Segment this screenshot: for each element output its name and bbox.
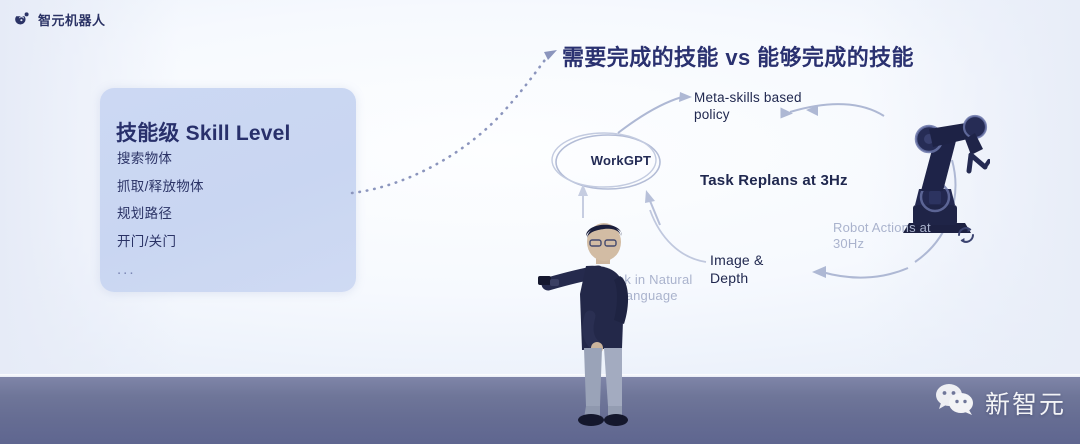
dotted-arrow-icon [352, 50, 557, 193]
robot-arm-icon [885, 105, 990, 235]
task-replans-label: Task Replans at 3Hz [700, 172, 848, 191]
image-depth-label: Image & Depth [710, 252, 800, 287]
meta-skills-policy-label: Meta-skills based policy [694, 90, 824, 124]
slide-stage: 智元机器人 技能级 Skill Level 搜索物体 抓取/释放物体 规划路径 … [0, 0, 1080, 444]
watermark-text: 新智元 [985, 385, 1066, 421]
presenter-person [520, 220, 660, 435]
channel-watermark: 新智元 [933, 383, 1066, 422]
workgpt-node-label: WorkGPT [576, 153, 666, 169]
wechat-icon [933, 383, 977, 422]
refresh-loop-icon [955, 224, 977, 251]
robot-actions-label: Robot Actions at 30Hz [833, 220, 953, 253]
